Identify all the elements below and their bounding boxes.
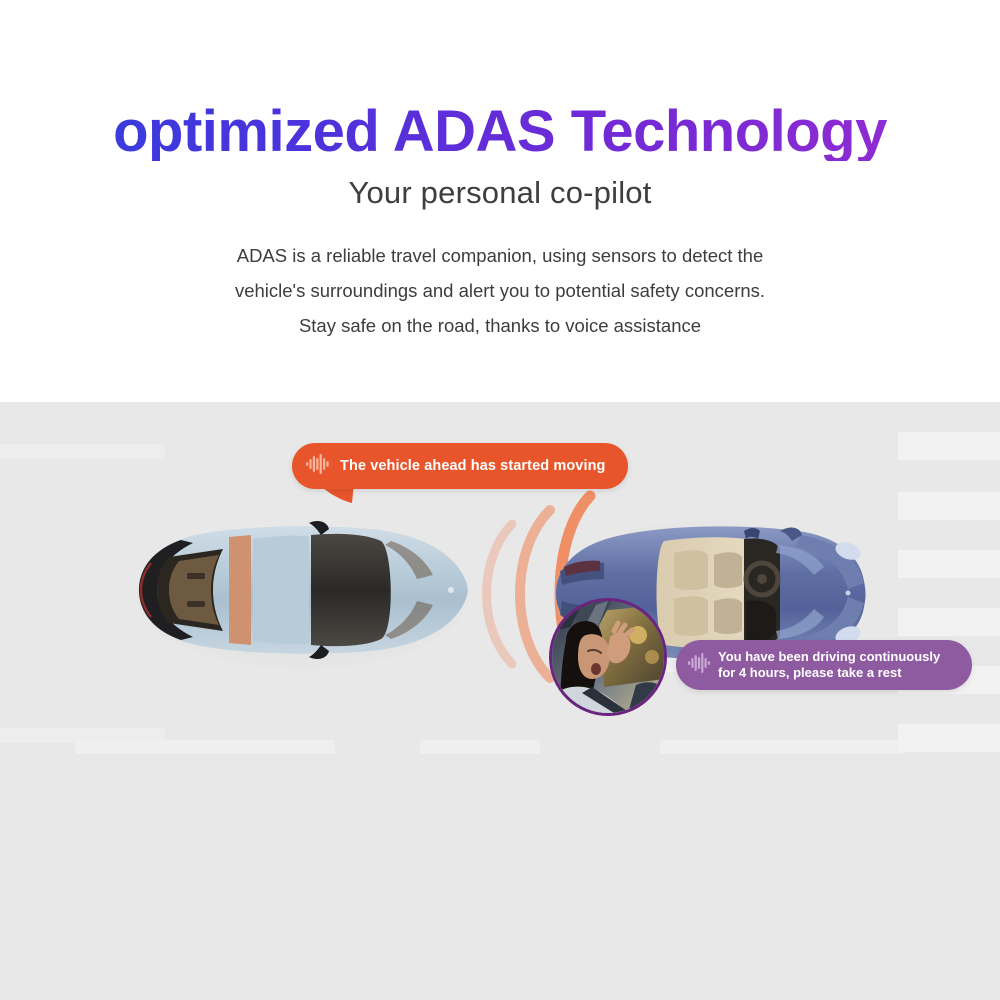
road-marking — [898, 432, 1000, 460]
road-marking — [420, 740, 540, 754]
fatigue-alert-line-1: You have been driving continuously — [718, 649, 940, 665]
page-title: optimized ADAS Technology — [113, 103, 887, 161]
fatigue-alert-text: You have been driving continuously for 4… — [718, 649, 940, 681]
fatigue-alert[interactable]: You have been driving continuously for 4… — [676, 640, 972, 690]
road-marking — [898, 550, 1000, 578]
driver-photo — [549, 598, 667, 716]
road-marking — [660, 740, 905, 754]
sound-wave-icon — [306, 454, 330, 479]
description-line-2: vehicle's surroundings and alert you to … — [120, 273, 880, 308]
road-marking — [75, 740, 335, 754]
forward-vehicle-start-alert[interactable]: The vehicle ahead has started moving — [292, 443, 628, 489]
road-marking — [898, 492, 1000, 520]
road-marking — [898, 608, 1000, 636]
description-line-3: Stay safe on the road, thanks to voice a… — [120, 308, 880, 343]
road-marking — [0, 444, 165, 459]
hero-section: optimized ADAS Technology Your personal … — [0, 0, 1000, 402]
page-subtitle: Your personal co-pilot — [348, 175, 651, 211]
description-line-1: ADAS is a reliable travel companion, usi… — [120, 238, 880, 273]
road-marking — [898, 724, 1000, 752]
fatigue-alert-line-2: for 4 hours, please take a rest — [718, 665, 940, 681]
scene-section: The vehicle ahead has started moving You… — [0, 402, 1000, 1000]
sound-wave-icon — [688, 653, 710, 678]
page-description: ADAS is a reliable travel companion, usi… — [120, 238, 880, 343]
front-vehicle — [133, 505, 471, 675]
forward-vehicle-start-alert-text: The vehicle ahead has started moving — [340, 458, 606, 474]
